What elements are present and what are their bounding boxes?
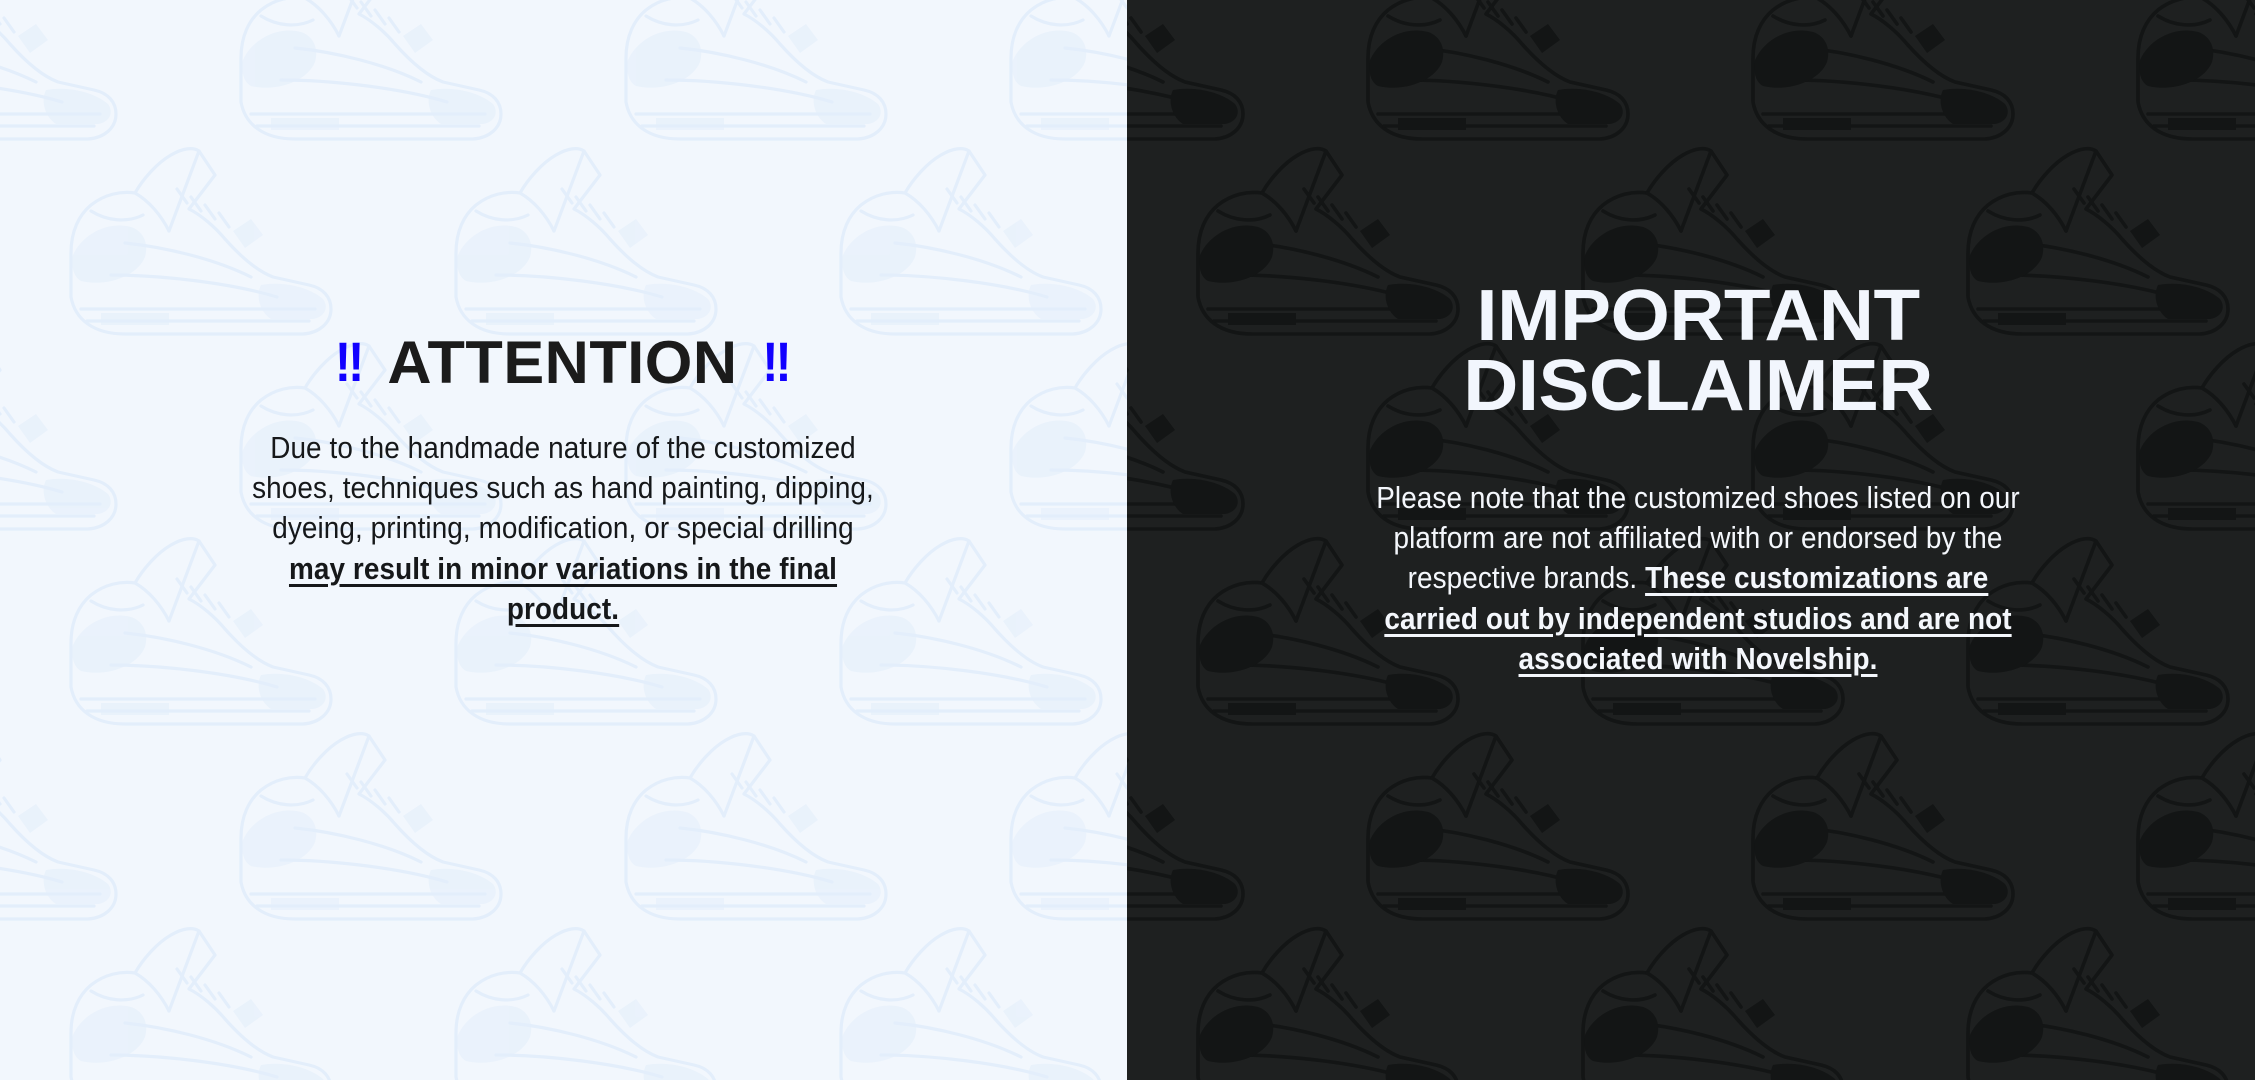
disclaimer-body: Please note that the customized shoes li… [1374,478,2022,679]
attention-body-emphasis: may result in minor variations in the fi… [288,551,836,626]
disclaimer-heading-line-1: IMPORTANT [1127,281,2255,352]
double-exclamation-icon-right: ‼ [762,333,790,392]
disclaimer-content: IMPORTANT DISCLAIMER Please note that th… [1141,281,2255,800]
attention-body: Due to the handmade nature of the custom… [248,428,878,629]
attention-content: ‼ATTENTION‼ Due to the handmade nature o… [0,331,1126,749]
disclaimer-heading-line-2: DISCLAIMER [1127,351,2255,422]
disclaimer-heading: IMPORTANT DISCLAIMER [1127,281,2255,422]
double-exclamation-icon-left: ‼ [335,333,363,392]
attention-body-plain: Due to the handmade nature of the custom… [252,430,874,546]
attention-heading-text: ATTENTION [365,331,760,394]
disclaimer-panel: IMPORTANT DISCLAIMER Please note that th… [1127,0,2255,1080]
disclaimer-banner: ‼ATTENTION‼ Due to the handmade nature o… [0,0,2255,1080]
attention-heading: ‼ATTENTION‼ [0,331,1127,394]
attention-panel: ‼ATTENTION‼ Due to the handmade nature o… [0,0,1127,1080]
